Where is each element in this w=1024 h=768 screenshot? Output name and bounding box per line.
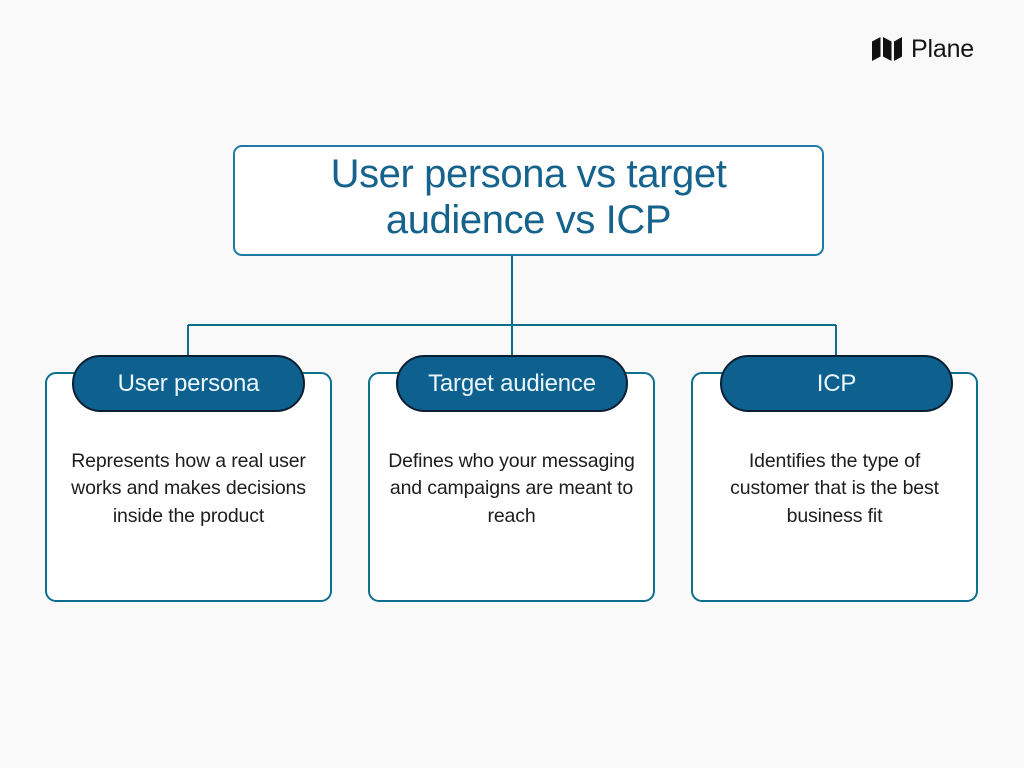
card-body-text: Identifies the type of customer that is … [693,448,976,530]
card-body-text: Defines who your messaging and campaigns… [370,448,653,530]
card-header-pill-target-audience[interactable]: Target audience [396,355,628,412]
page-title: User persona vs target audience vs ICP [253,152,804,243]
card-header-pill-icp[interactable]: ICP [720,355,953,412]
diagram-title-box: User persona vs target audience vs ICP [233,145,824,256]
brand-logo: Plane [872,33,974,65]
brand-name: Plane [911,37,974,62]
card-header-label: User persona [118,372,260,396]
card-header-pill-user-persona[interactable]: User persona [72,355,305,412]
plane-logo-mark-icon [872,37,902,61]
slide-canvas: Plane User persona vs target audience vs… [0,0,1024,768]
card-header-label: Target audience [428,372,596,396]
card-body-text: Represents how a real user works and mak… [47,448,330,530]
card-header-label: ICP [817,372,856,396]
